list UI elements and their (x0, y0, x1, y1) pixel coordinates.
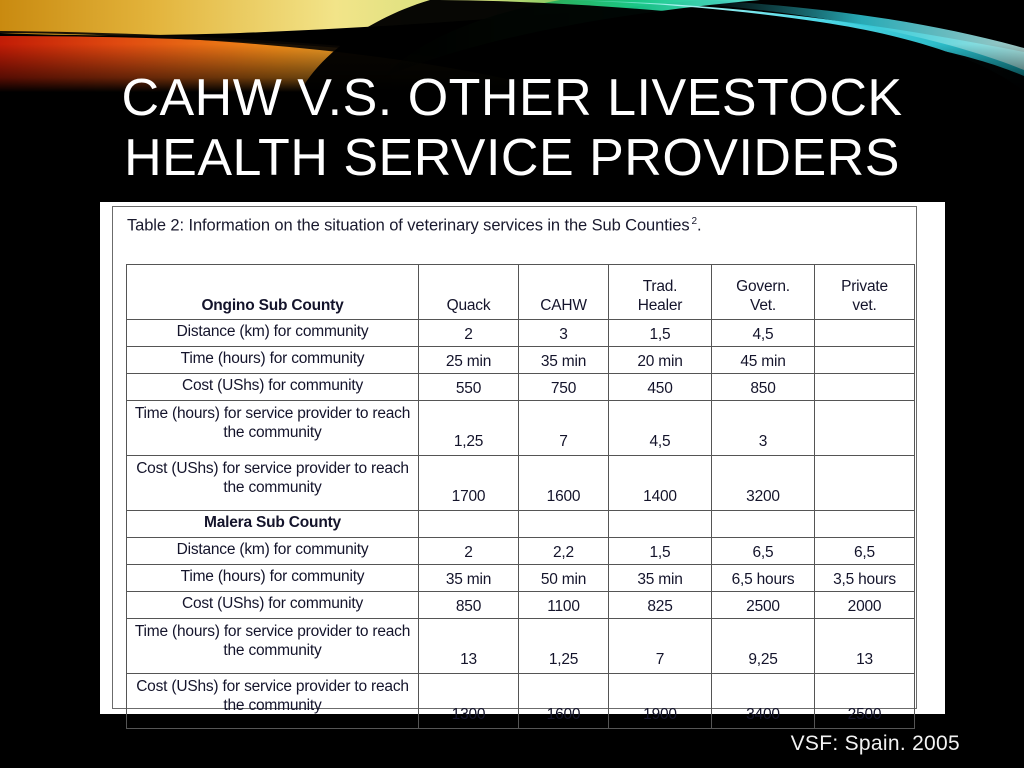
row-label: Distance (km) for community (127, 320, 419, 347)
row-value: 6,5 (712, 538, 815, 565)
row-value: 1,25 (419, 401, 519, 456)
row-value: 550 (419, 374, 519, 401)
section-label-malera: Malera Sub County (127, 511, 419, 538)
row-value (815, 374, 915, 401)
row-value (815, 456, 915, 511)
table-panel-inner: Table 2: Information on the situation of… (112, 206, 917, 709)
row-value: 50 min (519, 565, 609, 592)
table-panel: Table 2: Information on the situation of… (100, 202, 945, 714)
row-label: Time (hours) for service provider to rea… (127, 619, 419, 674)
column-header-cahw: CAHW (519, 265, 609, 320)
row-value: 4,5 (609, 401, 712, 456)
row-value: 4,5 (712, 320, 815, 347)
row-value: 1,25 (519, 619, 609, 674)
row-value: 35 min (519, 347, 609, 374)
row-label: Cost (UShs) for service provider to reac… (127, 674, 419, 729)
row-value: 7 (609, 619, 712, 674)
row-value: 1300 (419, 674, 519, 729)
row-value: 2500 (712, 592, 815, 619)
column-header-govern-vet: Govern. Vet. (712, 265, 815, 320)
row-value: 13 (815, 619, 915, 674)
column-header-line1: Trad. (611, 277, 709, 296)
column-header-line2: vet. (817, 296, 912, 315)
row-value: 13 (419, 619, 519, 674)
row-value: 7 (519, 401, 609, 456)
row-value: 1900 (609, 674, 712, 729)
row-value: 6,5 (815, 538, 915, 565)
page-title: CAHW v.s. Other Livestock Health Service… (62, 68, 962, 188)
row-value: 1600 (519, 674, 609, 729)
row-label: Cost (UShs) for service provider to reac… (127, 456, 419, 511)
row-value: 3200 (712, 456, 815, 511)
row-value: 2500 (815, 674, 915, 729)
column-header-quack: Quack (419, 265, 519, 320)
row-value: 750 (519, 374, 609, 401)
table-caption-suffix: . (697, 217, 701, 235)
table-body: Ongino Sub County Quack CAHW Trad. H (127, 265, 915, 729)
row-value: 25 min (419, 347, 519, 374)
column-header-private-vet: Private vet. (815, 265, 915, 320)
row-value: 3 (519, 320, 609, 347)
row-value: 1100 (519, 592, 609, 619)
table-caption-superscript: 2 (689, 216, 696, 227)
veterinary-services-table: Ongino Sub County Quack CAHW Trad. H (126, 264, 915, 729)
row-value: 2 (419, 538, 519, 565)
row-value (815, 320, 915, 347)
table-row: Cost (UShs) for service provider to reac… (127, 456, 915, 511)
row-value: 3 (712, 401, 815, 456)
row-label: Distance (km) for community (127, 538, 419, 565)
table-row: Cost (UShs) for community 550 750 450 85… (127, 374, 915, 401)
column-header-trad-healer: Trad. Healer (609, 265, 712, 320)
row-value (815, 511, 915, 538)
row-value: 2 (419, 320, 519, 347)
column-header-line2: Healer (611, 296, 709, 315)
row-label: Time (hours) for service provider to rea… (127, 401, 419, 456)
column-header-line2: Vet. (714, 296, 812, 315)
column-header-line1: Govern. (714, 277, 812, 296)
table-row: Time (hours) for community 35 min 50 min… (127, 565, 915, 592)
table-row: Distance (km) for community 2 3 1,5 4,5 (127, 320, 915, 347)
row-value: 1700 (419, 456, 519, 511)
row-value: 20 min (609, 347, 712, 374)
row-value (519, 511, 609, 538)
table-row: Time (hours) for community 25 min 35 min… (127, 347, 915, 374)
row-value: 6,5 hours (712, 565, 815, 592)
column-header-sub-county: Ongino Sub County (127, 265, 419, 320)
row-value: 2,2 (519, 538, 609, 565)
row-value: 850 (419, 592, 519, 619)
table-row: Cost (UShs) for service provider to reac… (127, 674, 915, 729)
source-credit: VSF: Spain. 2005 (0, 732, 960, 756)
row-value: 450 (609, 374, 712, 401)
column-header-line2: CAHW (521, 296, 606, 315)
row-value: 1600 (519, 456, 609, 511)
row-value: 1,5 (609, 538, 712, 565)
row-label: Cost (UShs) for community (127, 592, 419, 619)
ribbon-band-cyan-highlight (700, 0, 1024, 70)
row-value: 825 (609, 592, 712, 619)
row-label: Cost (UShs) for community (127, 374, 419, 401)
row-value (815, 347, 915, 374)
slide: CAHW v.s. Other Livestock Health Service… (0, 0, 1024, 768)
row-value: 1,5 (609, 320, 712, 347)
row-value (609, 511, 712, 538)
table-row: Time (hours) for service provider to rea… (127, 401, 915, 456)
row-value: 1400 (609, 456, 712, 511)
row-value: 45 min (712, 347, 815, 374)
row-value (419, 511, 519, 538)
table-caption-text: Table 2: Information on the situation of… (127, 217, 689, 235)
table-row: Distance (km) for community 2 2,2 1,5 6,… (127, 538, 915, 565)
row-value (815, 401, 915, 456)
table-section-row: Malera Sub County (127, 511, 915, 538)
row-value (712, 511, 815, 538)
row-value: 35 min (609, 565, 712, 592)
row-value: 2000 (815, 592, 915, 619)
table-caption: Table 2: Information on the situation of… (127, 216, 907, 236)
table-row: Cost (UShs) for community 850 1100 825 2… (127, 592, 915, 619)
row-value: 3400 (712, 674, 815, 729)
column-header-line2: Ongino Sub County (129, 296, 416, 315)
row-value: 35 min (419, 565, 519, 592)
row-label: Time (hours) for community (127, 565, 419, 592)
column-header-line2: Quack (421, 296, 516, 315)
column-header-line1: Private (817, 277, 912, 296)
table-row: Time (hours) for service provider to rea… (127, 619, 915, 674)
row-value: 850 (712, 374, 815, 401)
ribbon-band-warm-top (0, 0, 700, 35)
row-value: 9,25 (712, 619, 815, 674)
row-label: Time (hours) for community (127, 347, 419, 374)
row-value: 3,5 hours (815, 565, 915, 592)
table-header-row: Ongino Sub County Quack CAHW Trad. H (127, 265, 915, 320)
